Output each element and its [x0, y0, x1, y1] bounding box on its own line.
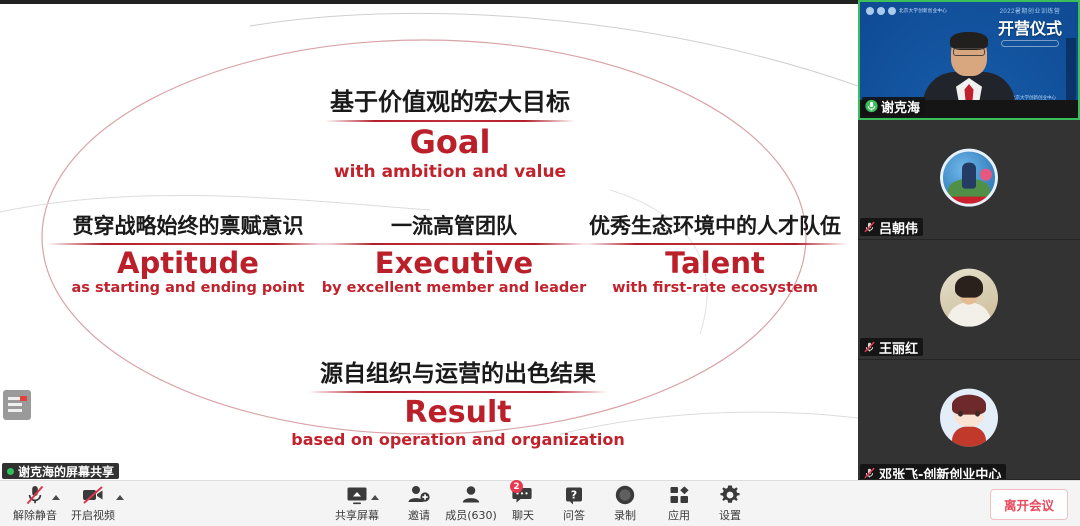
- participant-filmstrip[interactable]: 北京大学创新创业中心 2022暑期创业训练营 开营仪式 主办单位 北京大学创新创…: [858, 0, 1080, 480]
- chat-unread-badge: 2: [510, 480, 523, 493]
- slide-divider: [308, 391, 608, 393]
- slide-block-cn: 优秀生态环境中的人才队伍: [570, 210, 858, 240]
- chat-button-label: 聊天: [512, 507, 534, 523]
- slide-block-result: 源自组织与运营的出色结果 Result based on operation a…: [268, 354, 648, 449]
- slide-block-en: Result: [268, 397, 648, 429]
- video-bg-panel: [1066, 38, 1076, 100]
- participant-name-tag: 王丽红: [860, 338, 923, 356]
- slide-canvas: 基于价值观的宏大目标 Goal with ambition and value …: [0, 4, 858, 466]
- participant-tile[interactable]: 吕朝伟: [858, 120, 1080, 240]
- add-person-icon: [407, 484, 431, 506]
- video-options-caret-icon[interactable]: [116, 495, 124, 500]
- avatar: [940, 148, 998, 206]
- avatar: [940, 388, 998, 446]
- shared-screen-area[interactable]: 查看选项 基于价值观的宏大目标 Goal with ambition and v…: [0, 0, 858, 480]
- slide-block-goal: 基于价值观的宏大目标 Goal with ambition and value: [275, 82, 625, 182]
- participant-name-tag: 吕朝伟: [860, 218, 923, 236]
- mute-button-label: 解除静音: [13, 507, 57, 523]
- screen-share-icon: [345, 484, 369, 506]
- mic-muted-icon: [863, 340, 876, 354]
- slide-block-sub: with first-rate ecosystem: [570, 280, 858, 296]
- mic-muted-icon: [863, 466, 876, 480]
- start-video-button[interactable]: 开启视频: [62, 484, 124, 524]
- shared-screen-name-tag: 谢克海的屏幕共享: [2, 463, 119, 479]
- share-options-caret-icon[interactable]: [371, 495, 379, 500]
- slide-block-cn: 基于价值观的宏大目标: [275, 82, 625, 117]
- meeting-window: 查看选项 基于价值观的宏大目标 Goal with ambition and v…: [0, 0, 1080, 526]
- participant-name: 吕朝伟: [879, 218, 918, 236]
- avatar: [940, 268, 998, 326]
- slide-divider: [583, 243, 848, 245]
- video-bg-title-small: 2022暑期创业训练营: [988, 6, 1072, 15]
- video-bg-header: 北京大学创新创业中心: [866, 7, 947, 15]
- apps-button-label: 应用: [668, 507, 690, 523]
- leave-meeting-button[interactable]: 离开会议: [990, 489, 1068, 520]
- record-button-label: 录制: [614, 507, 636, 523]
- share-screen-button[interactable]: 共享屏幕: [326, 484, 388, 524]
- mute-options-caret-icon[interactable]: [52, 495, 60, 500]
- slide-block-sub: with ambition and value: [275, 162, 625, 182]
- slide-block-sub: as starting and ending point: [28, 280, 348, 296]
- apps-grid-icon: [668, 484, 690, 506]
- slide-block-executive: 一流高管团队 Executive by excellent member and…: [305, 210, 603, 296]
- participant-name: 王丽红: [879, 338, 918, 356]
- slide-block-talent: 优秀生态环境中的人才队伍 Talent with first-rate ecos…: [570, 210, 858, 296]
- participant-tile[interactable]: 北京大学创新创业中心 2022暑期创业训练营 开营仪式 主办单位 北京大学创新创…: [858, 0, 1080, 120]
- participant-tile[interactable]: 邓张飞-创新创业中心: [858, 360, 1080, 480]
- settings-button-label: 设置: [719, 507, 741, 523]
- logo-icon: [888, 7, 896, 15]
- qa-button-label: 问答: [563, 507, 585, 523]
- share-screen-button-label: 共享屏幕: [335, 507, 379, 523]
- active-indicator-icon: [7, 468, 14, 475]
- participant-tile[interactable]: 王丽红: [858, 240, 1080, 360]
- chat-bubble-icon: 2: [511, 484, 535, 506]
- participant-name: 谢克海: [881, 97, 920, 115]
- slide-block-sub: by excellent member and leader: [305, 280, 603, 296]
- gear-icon: [719, 484, 741, 506]
- slide-block-en: Talent: [570, 248, 858, 278]
- people-icon: [459, 484, 483, 506]
- participant-name-tag: 谢克海: [862, 97, 925, 115]
- svg-text:?: ?: [571, 489, 577, 502]
- video-bg-header-text: 北京大学创新创业中心: [899, 8, 947, 14]
- slide-divider: [46, 243, 331, 245]
- slide-block-sub: based on operation and organization: [268, 430, 648, 449]
- settings-button[interactable]: 设置: [699, 484, 761, 524]
- slide-divider: [319, 243, 589, 245]
- panel-list-icon: [8, 396, 26, 414]
- slide-block-en: Aptitude: [28, 248, 348, 278]
- slide-block-en: Executive: [305, 248, 603, 278]
- logo-icon: [877, 7, 885, 15]
- slide-block-cn: 源自组织与运营的出色结果: [268, 354, 648, 388]
- side-panel-toggle[interactable]: [3, 390, 31, 420]
- record-circle-icon: [614, 484, 636, 506]
- slide-divider: [325, 120, 575, 122]
- invite-button-label: 邀请: [408, 507, 430, 523]
- record-button[interactable]: 录制: [594, 484, 656, 524]
- slide-block-cn: 贯穿战略始终的禀赋意识: [28, 210, 348, 240]
- participants-button-label: 成员(630): [445, 507, 497, 523]
- participant-name: 邓张飞-创新创业中心: [879, 464, 1001, 480]
- participant-name-tag: 邓张飞-创新创业中心: [860, 464, 1006, 480]
- slide-block-aptitude: 贯穿战略始终的禀赋意识 Aptitude as starting and end…: [28, 210, 348, 296]
- mic-muted-icon: [863, 220, 876, 234]
- meeting-toolbar: 解除静音 开启视频 共享屏幕: [0, 480, 1080, 526]
- mic-on-icon: [865, 99, 878, 113]
- camera-off-icon: [81, 484, 105, 506]
- start-video-button-label: 开启视频: [71, 507, 115, 523]
- mute-button[interactable]: 解除静音: [4, 484, 66, 524]
- slide-block-en: Goal: [275, 126, 625, 160]
- slide-block-cn: 一流高管团队: [305, 210, 603, 240]
- shared-screen-owner: 谢克海的屏幕共享: [18, 463, 114, 479]
- question-box-icon: ?: [563, 484, 585, 506]
- logo-icon: [866, 7, 874, 15]
- mic-muted-icon: [25, 484, 45, 506]
